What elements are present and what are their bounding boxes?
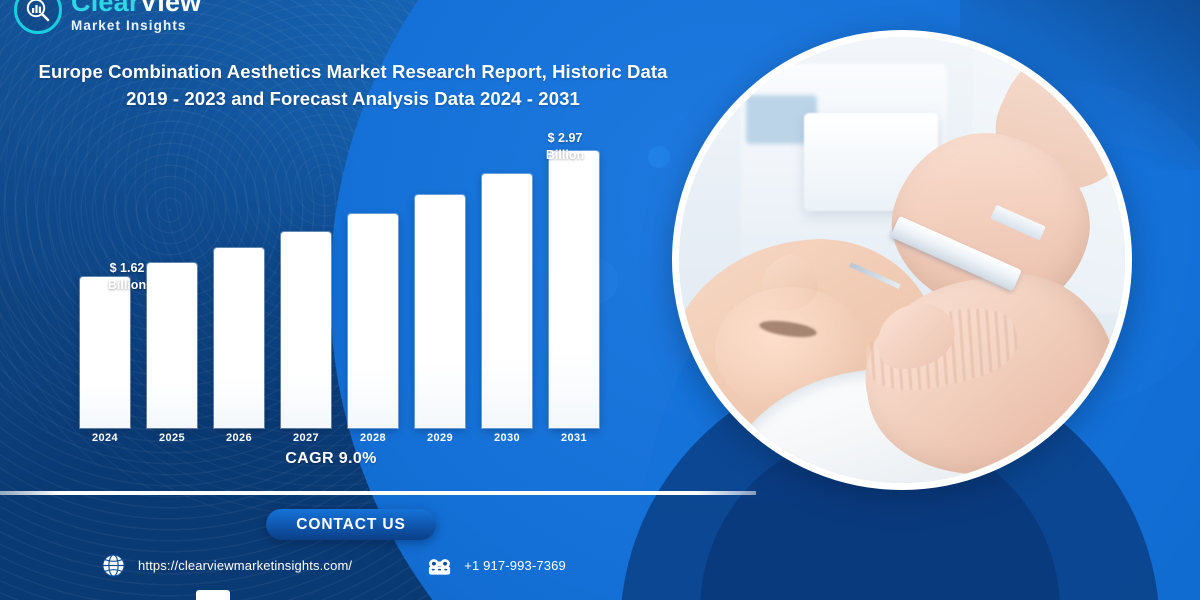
report-title-line2: 2019 - 2023 and Forecast Analysis Data 2… [126, 88, 580, 109]
value-label-last-unit: Billion [546, 148, 584, 162]
x-axis-label-2028: 2028 [348, 432, 398, 454]
bar-rect [415, 195, 465, 428]
chart-bar-2028 [348, 120, 398, 428]
photo-inner [679, 37, 1125, 483]
value-label-first: $ 1.62 Billion [86, 260, 168, 294]
phone-number: +1 917-993-7369 [464, 558, 566, 573]
footer-contact-bar: https://clearviewmarketinsights.com/ +1 … [100, 552, 566, 579]
report-title-line1: Europe Combination Aesthetics Market Res… [39, 61, 668, 82]
x-axis-label-2024: 2024 [80, 432, 130, 454]
brand-logo[interactable]: ClearView Market Insights [14, 0, 201, 34]
report-title: Europe Combination Aesthetics Market Res… [18, 58, 688, 113]
chart-bar-2030 [482, 120, 532, 428]
x-axis-label-2031: 2031 [549, 432, 599, 454]
value-label-last-amount: $ 2.97 [548, 131, 583, 145]
website-url: https://clearviewmarketinsights.com/ [138, 558, 352, 573]
bar-rect [482, 174, 532, 428]
aesthetic-injection-procedure-photo [672, 30, 1132, 490]
telephone-icon [426, 552, 453, 579]
contact-us-button[interactable]: CONTACT US [266, 509, 436, 540]
globe-icon [100, 552, 127, 579]
value-label-first-amount: $ 1.62 [110, 261, 145, 275]
brand-name-part1: Clear [71, 0, 140, 17]
bar-rect [549, 151, 599, 428]
value-label-first-unit: Billion [108, 278, 146, 292]
value-label-last: $ 2.97 Billion [522, 130, 608, 164]
brand-name-part2: View [140, 0, 202, 17]
x-axis-label-2030: 2030 [482, 432, 532, 454]
footer-divider [0, 491, 756, 495]
x-axis-label-2029: 2029 [415, 432, 465, 454]
phone-link[interactable]: +1 917-993-7369 [426, 552, 566, 579]
brand-tagline: Market Insights [71, 19, 201, 33]
x-axis-label-2026: 2026 [214, 432, 264, 454]
chart-bar-2029 [415, 120, 465, 428]
bar-rect [281, 232, 331, 428]
footer-clipped-element [196, 590, 230, 600]
bar-rect [214, 248, 264, 428]
bar-rect [348, 214, 398, 428]
magnifier-chart-logo-icon [14, 0, 62, 34]
bar-rect [80, 277, 130, 428]
chart-bar-2027 [281, 120, 331, 428]
chart-bar-2031 [549, 120, 599, 428]
x-axis-label-2025: 2025 [147, 432, 197, 454]
x-axis-label-2027: 2027 [281, 432, 331, 454]
decorative-dot-small [648, 146, 670, 168]
website-link[interactable]: https://clearviewmarketinsights.com/ [100, 552, 352, 579]
chart-bar-2026 [214, 120, 264, 428]
market-forecast-bar-chart: $ 1.62 Billion $ 2.97 Billion CAGR 9.0% … [40, 120, 600, 460]
brand-name: ClearView [71, 0, 201, 16]
